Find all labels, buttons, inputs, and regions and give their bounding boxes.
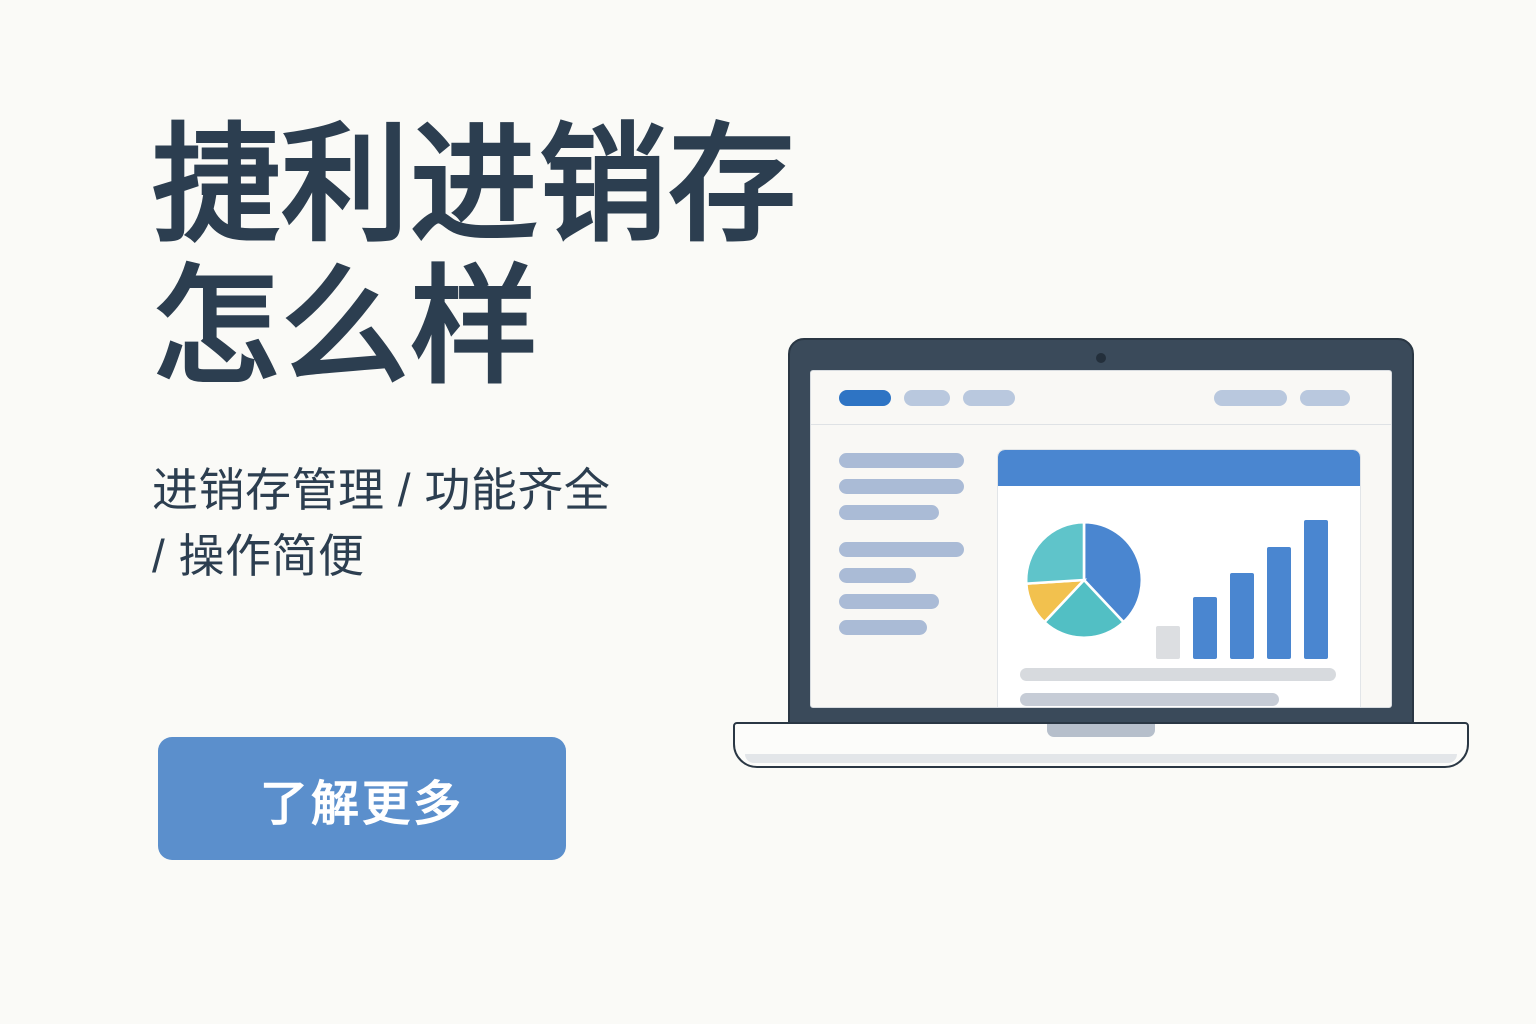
laptop-trackpad-notch: [1047, 724, 1155, 737]
bar-5: [1304, 520, 1328, 659]
laptop-lid: [788, 338, 1414, 728]
sidebar-item-7[interactable]: [839, 620, 927, 635]
bar-3: [1230, 573, 1254, 659]
hero-subtitle-line-1: 进销存管理 / 功能齐全: [152, 457, 732, 523]
nav-pill-active[interactable]: [839, 390, 891, 406]
dashboard-card-header: [998, 450, 1360, 486]
card-text-line-2: [1020, 693, 1279, 706]
page-title-line-1: 捷利进销存: [152, 112, 772, 260]
sidebar-item-2[interactable]: [839, 479, 964, 494]
dashboard-card: [997, 449, 1361, 708]
nav-pill-2[interactable]: [904, 390, 950, 406]
dashboard-card-text: [1020, 668, 1336, 708]
nav-pill-5[interactable]: [1300, 390, 1350, 406]
laptop-screen: [810, 370, 1392, 708]
learn-more-button[interactable]: 了解更多: [158, 737, 566, 860]
bar-2: [1193, 597, 1217, 659]
page-title-line-2: 怎么样: [152, 254, 772, 402]
laptop-base: [733, 722, 1469, 768]
webcam-dot-icon: [1096, 353, 1106, 363]
laptop-base-edge: [745, 754, 1457, 763]
bar-1: [1156, 626, 1180, 659]
bar-chart: [1148, 501, 1336, 659]
hero-banner: 捷利进销存 怎么样 进销存管理 / 功能齐全 / 操作简便 了解更多: [0, 0, 1536, 1024]
pie-chart: [1020, 501, 1148, 659]
hero-subtitle-line-2: / 操作简便: [152, 523, 732, 589]
hero-subtitle: 进销存管理 / 功能齐全 / 操作简便: [152, 457, 732, 589]
card-text-line-1: [1020, 668, 1336, 681]
sidebar-item-4[interactable]: [839, 542, 964, 557]
sidebar-item-3[interactable]: [839, 505, 939, 520]
laptop-illustration: [715, 330, 1475, 790]
sidebar-item-6[interactable]: [839, 594, 939, 609]
dashboard-charts: [998, 494, 1360, 659]
app-sidebar: [839, 449, 975, 707]
app-body: [811, 425, 1391, 707]
sidebar-item-5[interactable]: [839, 568, 916, 583]
bar-4: [1267, 547, 1291, 659]
pie-chart-svg: [1025, 521, 1143, 639]
nav-pill-3[interactable]: [963, 390, 1015, 406]
app-top-nav: [811, 371, 1391, 425]
hero-text-column: 捷利进销存 怎么样 进销存管理 / 功能齐全 / 操作简便: [152, 112, 772, 589]
pie-slice-4: [1026, 522, 1084, 583]
nav-pill-4[interactable]: [1214, 390, 1287, 406]
sidebar-item-1[interactable]: [839, 453, 964, 468]
